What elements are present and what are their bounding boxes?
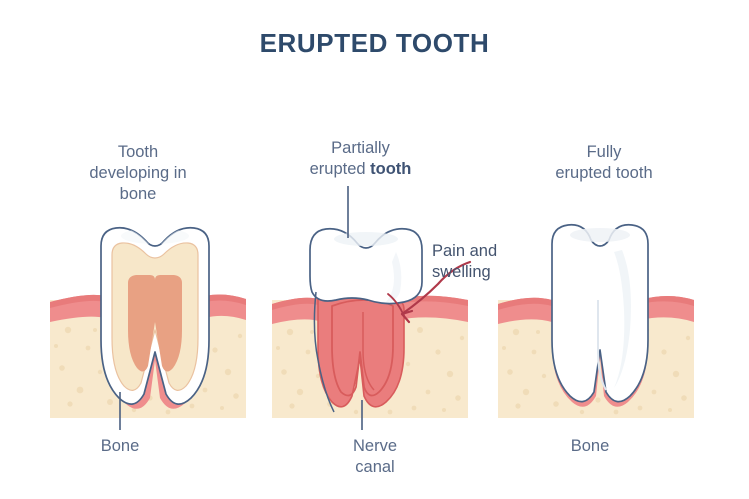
label-pain-and-swelling: Pain and swelling (432, 241, 542, 283)
label-partially-erupted-strong: tooth (370, 160, 411, 178)
panel-developing-illustration (50, 228, 246, 430)
label-partially-erupted-tooth: Partially erupted tooth (288, 138, 433, 180)
label-fully-erupted-tooth: Fully erupted tooth (530, 142, 678, 184)
tooth-diagram-illustration (0, 0, 749, 499)
diagram-root: ERUPTED TOOTH (0, 0, 749, 499)
label-nerve-canal: Nerve canal (330, 436, 420, 478)
label-bone-right: Bone (535, 436, 645, 457)
label-tooth-developing-in-bone: Tooth developing in bone (58, 142, 218, 205)
label-bone-left: Bone (65, 436, 175, 457)
page-title: ERUPTED TOOTH (0, 28, 749, 59)
panel-partial-illustration (272, 186, 470, 430)
